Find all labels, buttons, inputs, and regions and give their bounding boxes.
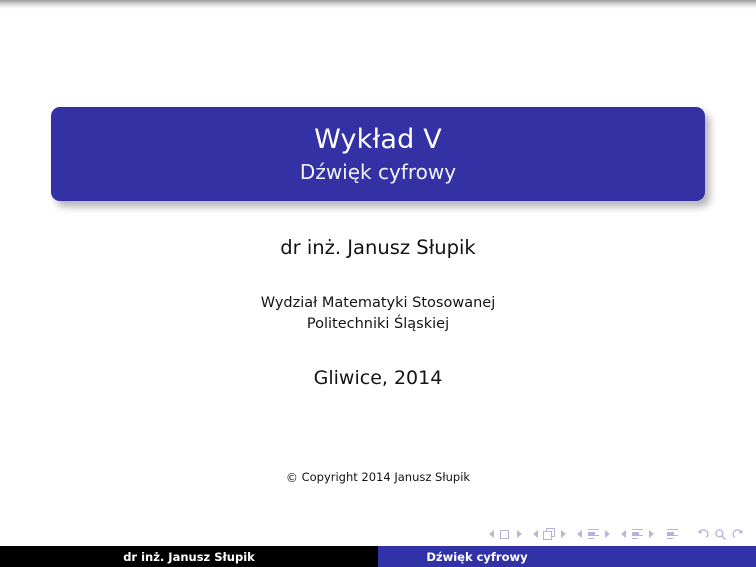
title-block-body: Wykład V Dźwięk cyfrowy: [51, 107, 705, 201]
copyright-icon: ©: [286, 471, 298, 485]
footer-author-section: dr inż. Janusz Słupik: [0, 546, 378, 567]
subsection-icon[interactable]: [586, 528, 601, 541]
nav-slide-group[interactable]: [489, 528, 522, 541]
next-slide-icon[interactable]: [517, 530, 522, 538]
forward-icon[interactable]: [732, 528, 745, 541]
prev-slide-icon[interactable]: [489, 530, 494, 538]
footer-author-label: dr inż. Janusz Słupik: [123, 550, 255, 564]
footer-title-section: Dźwięk cyfrowy: [378, 546, 756, 567]
slide-icon[interactable]: [498, 528, 513, 541]
institute: Wydział Matematyki Stosowanej Politechni…: [0, 259, 756, 335]
section-icon[interactable]: [630, 528, 645, 541]
nav-document-group[interactable]: [665, 528, 680, 541]
next-subsection-icon[interactable]: [605, 530, 610, 538]
nav-subsection-group[interactable]: [577, 528, 610, 541]
nav-section-group[interactable]: [621, 528, 654, 541]
presentation-slide: Wykład V Dźwięk cyfrowy dr inż. Janusz S…: [0, 0, 756, 567]
date-line: Gliwice, 2014: [0, 335, 756, 390]
back-icon[interactable]: [696, 528, 709, 541]
nav-frame-group[interactable]: [533, 528, 566, 541]
page-subtitle: Dźwięk cyfrowy: [300, 161, 456, 183]
beamer-navigation-bar[interactable]: [489, 524, 745, 544]
institute-line-1: Wydział Matematyki Stosowanej: [261, 295, 496, 311]
title-meta: dr inż. Janusz Słupik Wydział Matematyki…: [0, 236, 756, 390]
frame-icon[interactable]: [542, 528, 557, 541]
copyright-text: Copyright 2014 Janusz Słupik: [302, 470, 470, 484]
search-icon[interactable]: [714, 528, 727, 541]
next-frame-icon[interactable]: [561, 530, 566, 538]
nav-arrows-group[interactable]: [696, 528, 745, 541]
prev-frame-icon[interactable]: [533, 530, 538, 538]
slide-footer: dr inż. Janusz Słupik Dźwięk cyfrowy: [0, 546, 756, 567]
footer-title-label: Dźwięk cyfrowy: [426, 550, 527, 564]
prev-section-icon[interactable]: [621, 530, 626, 538]
copyright-notice: © Copyright 2014 Janusz Słupik: [0, 470, 756, 484]
page-title: Wykład V: [314, 125, 442, 155]
next-section-icon[interactable]: [649, 530, 654, 538]
prev-subsection-icon[interactable]: [577, 530, 582, 538]
institute-line-2: Politechniki Śląskiej: [307, 316, 449, 332]
title-block: Wykład V Dźwięk cyfrowy: [51, 107, 705, 201]
author-name: dr inż. Janusz Słupik: [0, 236, 756, 259]
viewer-top-edge-shadow: [0, 0, 756, 9]
document-icon[interactable]: [665, 528, 680, 541]
